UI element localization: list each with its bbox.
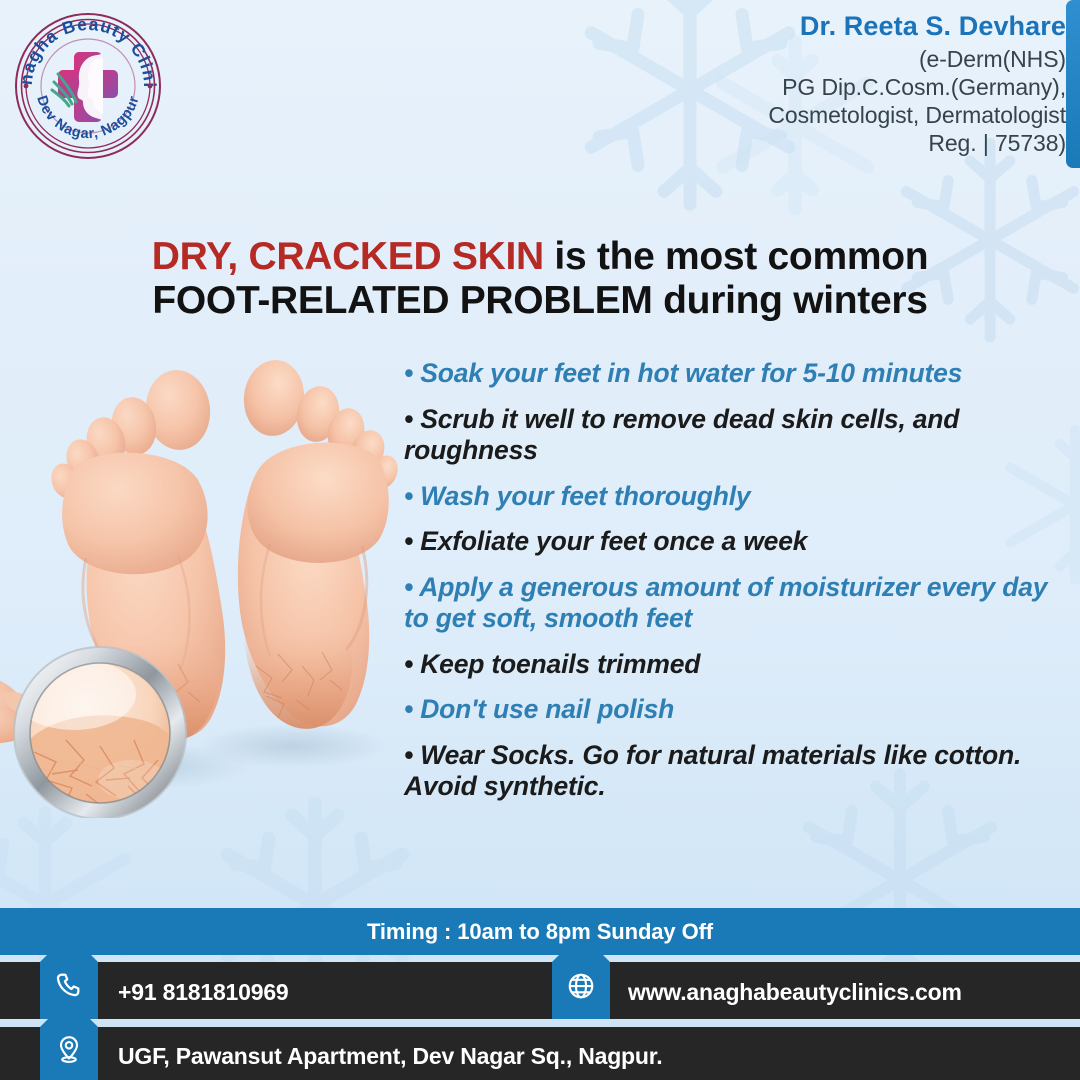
doctor-name: Dr. Reeta S. Devhare [586, 10, 1066, 43]
doctor-credential-line: Cosmetologist, Dermatologist [586, 101, 1066, 129]
timing-bar: Timing : 10am to 8pm Sunday Off [0, 908, 1080, 955]
list-item: • Wear Socks. Go for natural materials l… [404, 740, 1064, 803]
tips-list: • Soak your feet in hot water for 5-10 m… [404, 358, 1064, 817]
website-url[interactable]: www.anaghabeautyclinics.com [628, 979, 962, 1006]
list-item: • Exfoliate your feet once a week [404, 526, 1064, 558]
timing-text: Timing : 10am to 8pm Sunday Off [367, 919, 713, 945]
list-item: • Keep toenails trimmed [404, 649, 1064, 681]
cracked-heel-feet-with-magnifier-icon [0, 348, 412, 818]
poster-canvas: Anagha Beauty Clinic Dev Nagar, Nagpur [0, 0, 1080, 1080]
list-item: • Apply a generous amount of moisturizer… [404, 572, 1064, 635]
headline-red-text: DRY, CRACKED SKIN [152, 235, 544, 278]
list-item: • Wash your feet thoroughly [404, 481, 1064, 513]
clinic-address: UGF, Pawansut Apartment, Dev Nagar Sq., … [118, 1043, 662, 1070]
doctor-credential-line: (e-Derm(NHS) [586, 45, 1066, 73]
doctor-credential-line: PG Dip.C.Cosm.(Germany), [586, 73, 1066, 101]
list-item: • Scrub it well to remove dead skin cell… [404, 404, 1064, 467]
list-item: • Don't use nail polish [404, 694, 1064, 726]
list-item: • Soak your feet in hot water for 5-10 m… [404, 358, 1064, 390]
headline-line-2: FOOT-RELATED PROBLEM during winters [0, 278, 1080, 324]
phone-number[interactable]: +91 8181810969 [118, 979, 289, 1006]
header-accent-bar [1066, 0, 1080, 168]
phone-icon[interactable] [40, 953, 98, 1019]
doctor-credentials-block: Dr. Reeta S. Devhare (e-Derm(NHS) PG Dip… [586, 10, 1066, 157]
doctor-credential-line: Reg. | 75738) [586, 129, 1066, 157]
headline-line-1: DRY, CRACKED SKIN is the most common [0, 236, 1080, 278]
headline-black-text: is the most common [544, 235, 928, 278]
headline: DRY, CRACKED SKIN is the most common FOO… [0, 236, 1080, 324]
globe-icon[interactable] [552, 953, 610, 1019]
location-pin-icon[interactable] [40, 1018, 98, 1080]
clinic-logo: Anagha Beauty Clinic Dev Nagar, Nagpur [10, 8, 166, 164]
